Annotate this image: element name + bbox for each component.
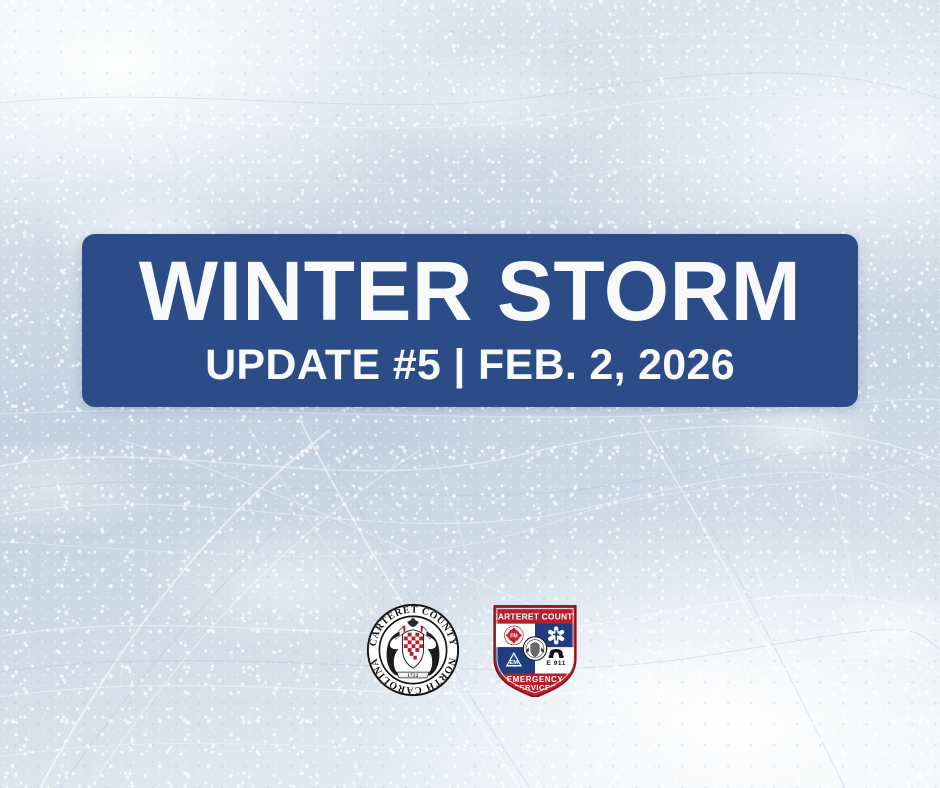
banner-title: WINTER STORM bbox=[139, 250, 801, 332]
svg-text:1722: 1722 bbox=[407, 674, 419, 679]
emergency-services-badge-logo: CARTERET COUNTY FM bbox=[490, 603, 580, 697]
winter-storm-banner: WINTER STORM UPDATE #5 | FEB. 2, 2026 bbox=[82, 234, 858, 407]
logo-row: CARTERET COUNTY NORTH CAROLINA bbox=[0, 600, 940, 700]
svg-text:EM: EM bbox=[509, 660, 518, 666]
banner-subtitle: UPDATE #5 | FEB. 2, 2026 bbox=[205, 344, 735, 387]
svg-text:E 911: E 911 bbox=[546, 660, 566, 667]
svg-text:FM: FM bbox=[510, 633, 517, 639]
carteret-county-seal-logo: CARTERET COUNTY NORTH CAROLINA bbox=[361, 602, 465, 698]
svg-text:CARTERET COUNTY: CARTERET COUNTY bbox=[491, 611, 578, 621]
winter-storm-poster: WINTER STORM UPDATE #5 | FEB. 2, 2026 CA… bbox=[0, 0, 940, 788]
